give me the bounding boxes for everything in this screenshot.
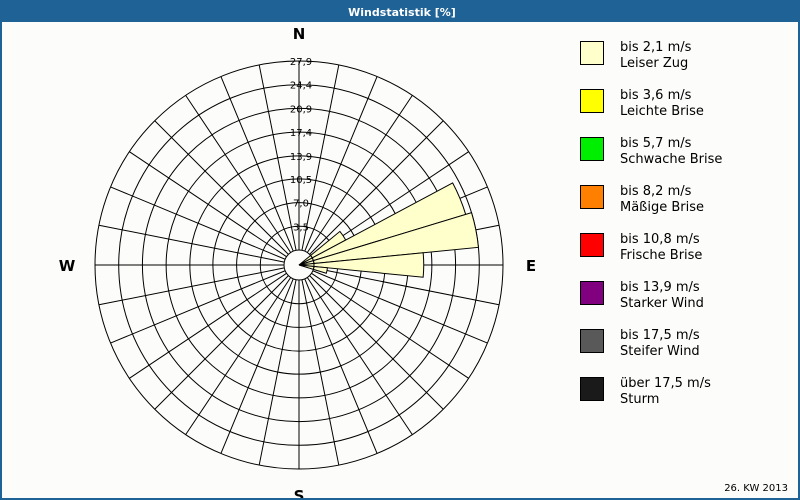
legend-item[interactable]: bis 3,6 m/s Leichte Brise [580, 88, 790, 129]
radial-tick-label: 27,9 [290, 57, 312, 68]
legend: bis 2,1 m/s Leiser Zug bis 3,6 m/s Leich… [580, 40, 790, 424]
legend-speed: bis 13,9 m/s [620, 280, 700, 295]
legend-swatch [580, 329, 604, 353]
legend-label: bis 17,5 m/s Steifer Wind [620, 328, 700, 360]
windrose-chart: 3,57,010,513,917,420,924,427,9 NESW [2, 22, 562, 498]
radial-tick-label: 7,0 [293, 199, 309, 210]
legend-name: Schwache Brise [620, 152, 722, 168]
legend-label: bis 10,8 m/s Frische Brise [620, 232, 702, 264]
legend-item[interactable]: bis 8,2 m/s Mäßige Brise [580, 184, 790, 225]
legend-item[interactable]: über 17,5 m/s Sturm [580, 376, 790, 417]
radial-tick-label: 13,9 [290, 152, 312, 163]
legend-name: Frische Brise [620, 248, 702, 264]
legend-speed: bis 5,7 m/s [620, 136, 691, 151]
window-title-bar: Windstatistik [%] [2, 2, 800, 22]
legend-swatch [580, 377, 604, 401]
legend-item[interactable]: bis 2,1 m/s Leiser Zug [580, 40, 790, 81]
legend-label: bis 3,6 m/s Leichte Brise [620, 88, 704, 120]
center-hub [284, 250, 314, 280]
grid-spoke [155, 276, 289, 410]
legend-speed: bis 8,2 m/s [620, 184, 691, 199]
legend-item[interactable]: bis 13,9 m/s Starker Wind [580, 280, 790, 321]
page-title: Windstatistik [%] [348, 6, 456, 19]
grid-spoke [99, 268, 284, 305]
legend-label: bis 5,7 m/s Schwache Brise [620, 136, 722, 168]
legend-swatch [580, 281, 604, 305]
legend-swatch [580, 137, 604, 161]
grid-spoke [99, 225, 284, 262]
legend-speed: über 17,5 m/s [620, 376, 711, 391]
radial-tick-label: 20,9 [290, 104, 312, 115]
legend-swatch [580, 233, 604, 257]
window-content: 3,57,010,513,917,420,924,427,9 NESW bis … [2, 22, 798, 498]
legend-name: Leiser Zug [620, 56, 691, 72]
radial-tick-labels: 3,57,010,513,917,420,924,427,9 [290, 57, 312, 233]
legend-speed: bis 10,8 m/s [620, 232, 700, 247]
radial-tick-label: 24,4 [290, 81, 312, 92]
windrose-window: Windstatistik [%] 3,57,010,513,917,420,9… [0, 0, 800, 500]
compass-label-south: S [294, 487, 305, 498]
legend-label: bis 2,1 m/s Leiser Zug [620, 40, 691, 72]
legend-name: Sturm [620, 392, 711, 408]
legend-item[interactable]: bis 5,7 m/s Schwache Brise [580, 136, 790, 177]
grid-spoke [302, 280, 339, 465]
legend-swatch [580, 41, 604, 65]
petal-group [311, 183, 479, 277]
radial-tick-label: 3,5 [293, 222, 309, 233]
legend-name: Leichte Brise [620, 104, 704, 120]
grid-spoke [259, 280, 296, 465]
legend-name: Steifer Wind [620, 344, 700, 360]
legend-item[interactable]: bis 10,8 m/s Frische Brise [580, 232, 790, 273]
compass-label-north: N [293, 25, 306, 43]
legend-label: bis 8,2 m/s Mäßige Brise [620, 184, 704, 216]
grid-spoke [155, 121, 289, 255]
legend-name: Mäßige Brise [620, 200, 704, 216]
legend-speed: bis 3,6 m/s [620, 88, 691, 103]
legend-label: bis 13,9 m/s Starker Wind [620, 280, 704, 312]
date-stamp: 26. KW 2013 [724, 483, 788, 494]
windrose-svg: 3,57,010,513,917,420,924,427,9 NESW [2, 22, 562, 498]
legend-swatch [580, 185, 604, 209]
compass-label-east: E [526, 257, 536, 275]
legend-item[interactable]: bis 17,5 m/s Steifer Wind [580, 328, 790, 369]
legend-label: über 17,5 m/s Sturm [620, 376, 711, 408]
radial-tick-label: 17,4 [290, 128, 312, 139]
compass-label-west: W [59, 257, 76, 275]
radial-tick-label: 10,5 [290, 175, 312, 186]
grid-spoke [310, 276, 444, 410]
legend-swatch [580, 89, 604, 113]
legend-speed: bis 2,1 m/s [620, 40, 691, 55]
legend-speed: bis 17,5 m/s [620, 328, 700, 343]
legend-name: Starker Wind [620, 296, 704, 312]
